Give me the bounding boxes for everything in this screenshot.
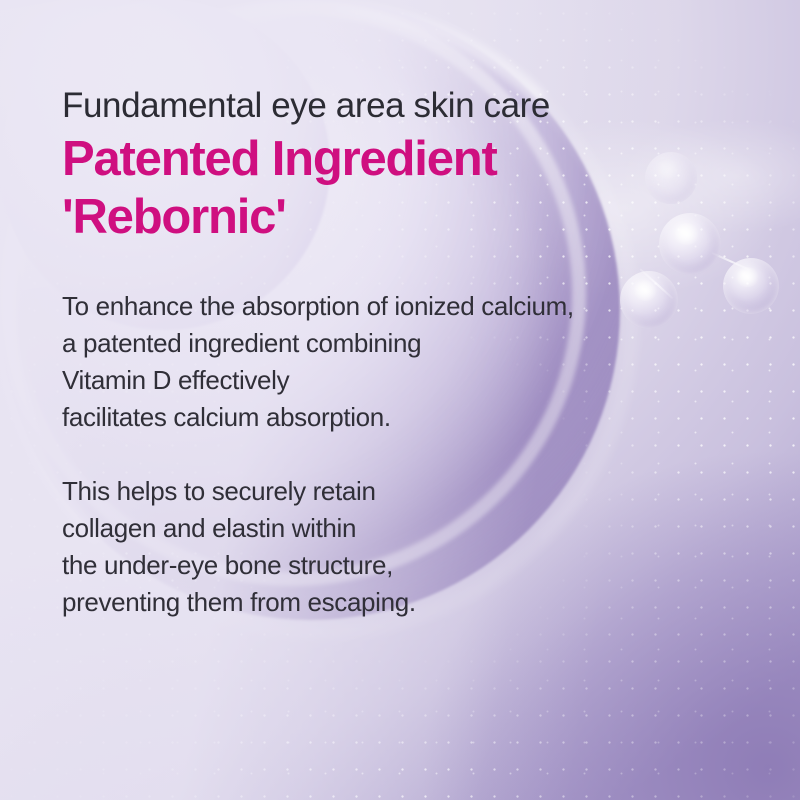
bubble-graphic	[723, 258, 779, 314]
body-line: collagen and elastin within	[62, 510, 682, 547]
body-line: Vitamin D effectively	[62, 362, 682, 399]
headline-line-2: 'Rebornic'	[62, 188, 682, 246]
body-paragraph-1: To enhance the absorption of ionized cal…	[62, 288, 682, 436]
body-line: To enhance the absorption of ionized cal…	[62, 288, 682, 325]
poster-text-block: Fundamental eye area skin care Patented …	[62, 0, 682, 621]
product-detail-poster: Fundamental eye area skin care Patented …	[0, 0, 800, 800]
body-line: a patented ingredient combining	[62, 325, 682, 362]
body-line: preventing them from escaping.	[62, 584, 682, 621]
body-line: the under-eye bone structure,	[62, 547, 682, 584]
eyebrow-heading: Fundamental eye area skin care	[62, 0, 682, 128]
headline-line-1: Patented Ingredient	[62, 130, 682, 188]
body-paragraph-2: This helps to securely retain collagen a…	[62, 473, 682, 621]
body-line: facilitates calcium absorption.	[62, 399, 682, 436]
body-line: This helps to securely retain	[62, 473, 682, 510]
